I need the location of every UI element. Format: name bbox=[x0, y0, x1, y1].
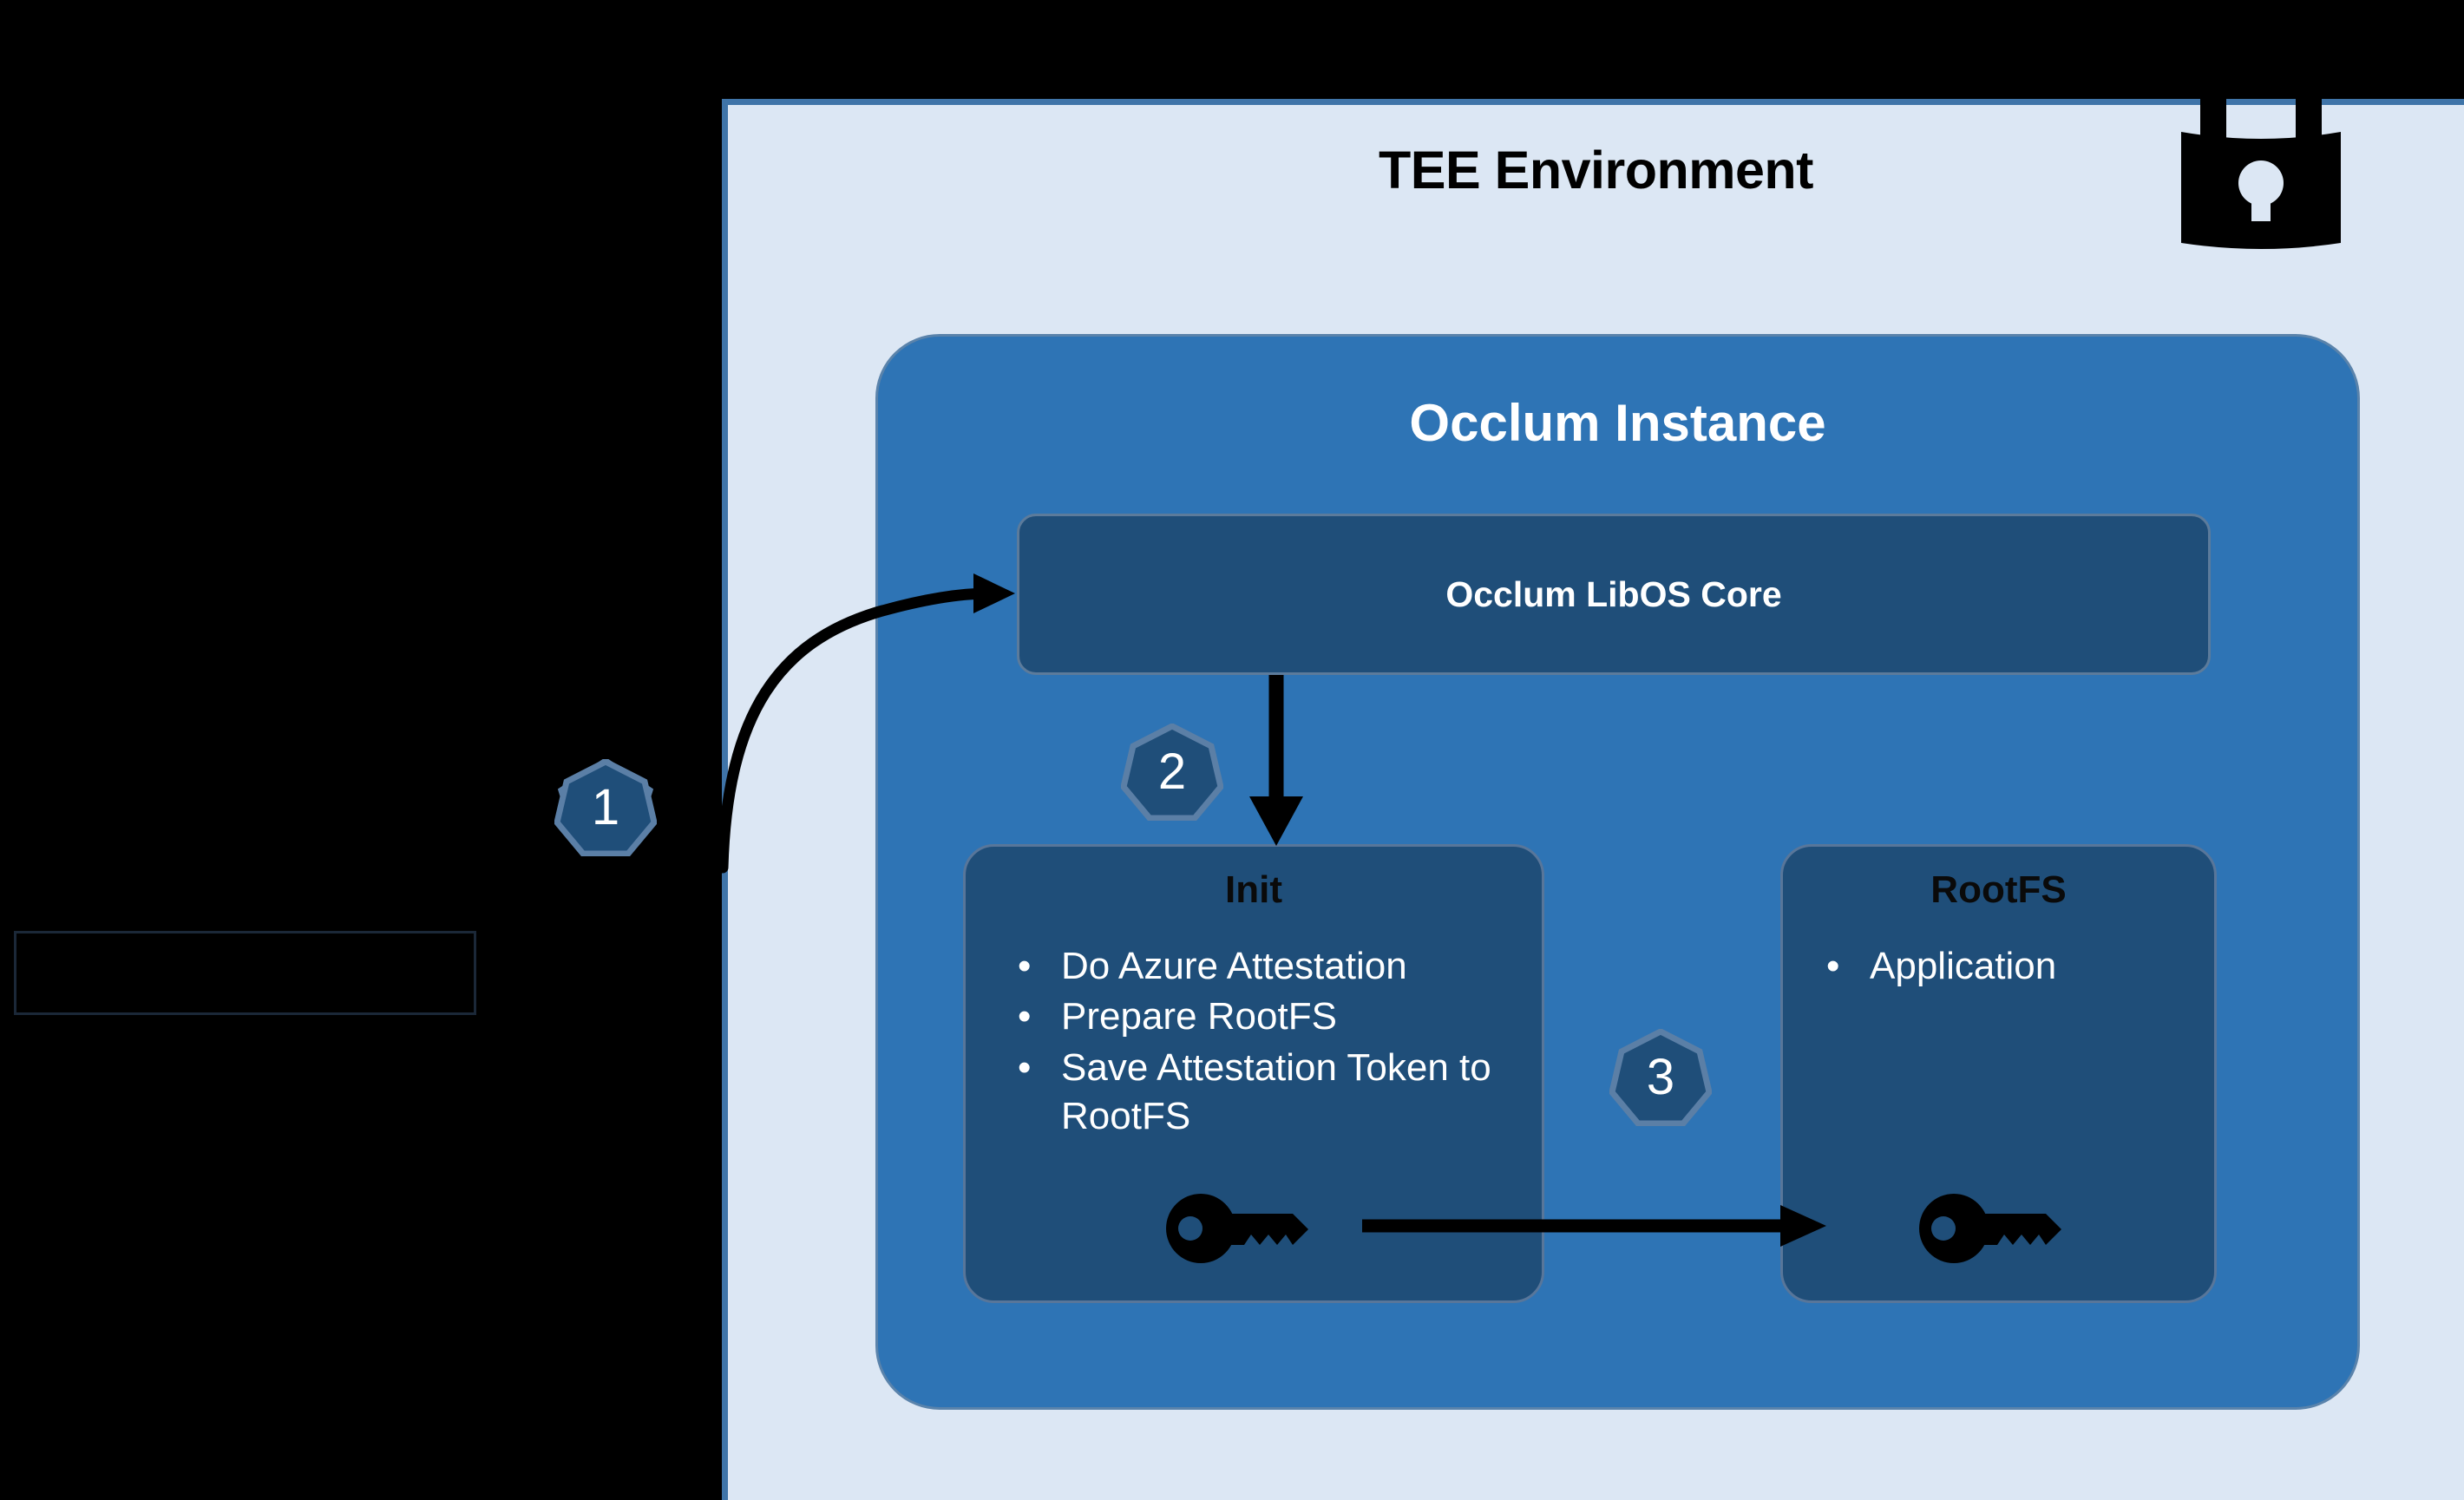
list-item: Application bbox=[1816, 942, 2198, 991]
init-bullet-list: Do Azure Attestation Prepare RootFS Save… bbox=[1007, 942, 1528, 1143]
step-badge-2: 2 bbox=[1121, 724, 1223, 821]
list-item: Prepare RootFS bbox=[1007, 992, 1528, 1041]
left-placeholder-rect bbox=[14, 931, 476, 1015]
init-title: Init bbox=[966, 868, 1542, 912]
step-badge-3-number: 3 bbox=[1609, 1029, 1712, 1126]
step-badge-3: 3 bbox=[1609, 1029, 1712, 1126]
step-badge-2-number: 2 bbox=[1121, 724, 1223, 821]
occlum-instance-title: Occlum Instance bbox=[878, 393, 2357, 453]
rootfs-title: RootFS bbox=[1783, 868, 2214, 912]
key-icon bbox=[1163, 1189, 1319, 1267]
list-item: Save Attestation Token to RootFS bbox=[1007, 1044, 1528, 1142]
occlum-libos-core-label: Occlum LibOS Core bbox=[1445, 574, 1781, 615]
step-badge-1: 1 bbox=[554, 759, 657, 856]
step-badge-1-number: 1 bbox=[554, 759, 657, 856]
list-item: Do Azure Attestation bbox=[1007, 942, 1528, 991]
rootfs-bullet-list: Application bbox=[1816, 942, 2198, 991]
lock-icon bbox=[2167, 35, 2355, 252]
key-icon bbox=[1916, 1189, 2072, 1267]
occlum-libos-core-box: Occlum LibOS Core bbox=[1017, 514, 2211, 675]
